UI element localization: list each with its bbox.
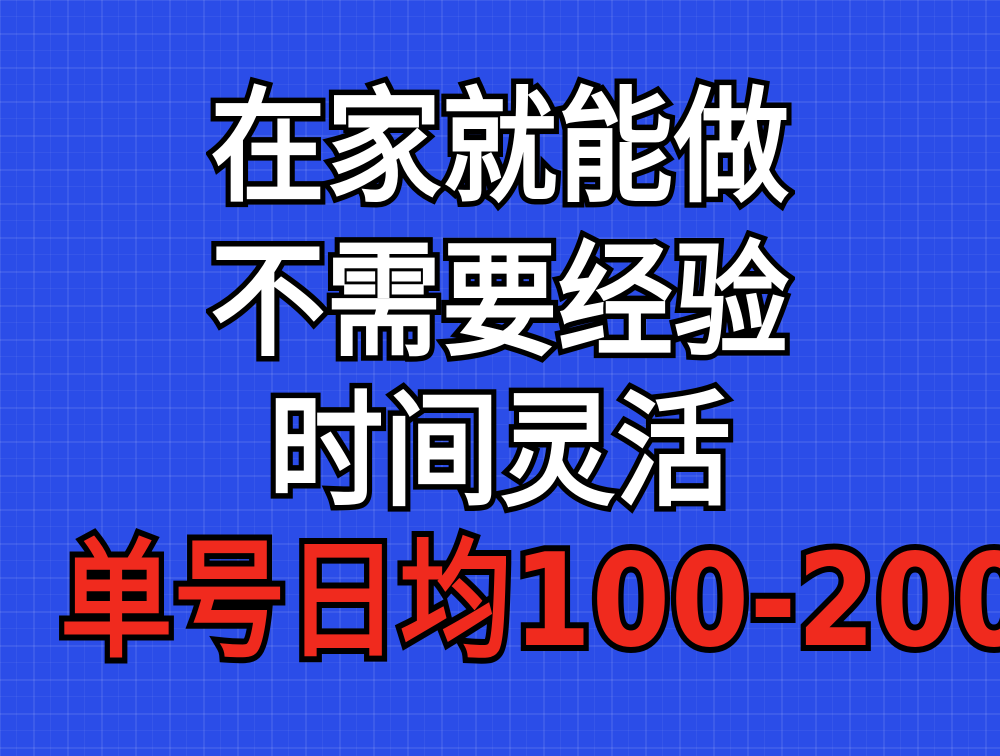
ad-text-stack: 在家就能做 不需要经验 时间灵活 单号日均100-200 [0, 0, 1000, 756]
headline-line-1: 在家就能做 [35, 86, 965, 210]
earnings-highlight-line: 单号日均100-200 [60, 538, 940, 666]
promo-banner: 在家就能做 不需要经验 时间灵活 单号日均100-200 [0, 0, 1000, 756]
headline-line-3: 时间灵活 [35, 390, 965, 514]
headline-line-2: 不需要经验 [35, 240, 965, 364]
